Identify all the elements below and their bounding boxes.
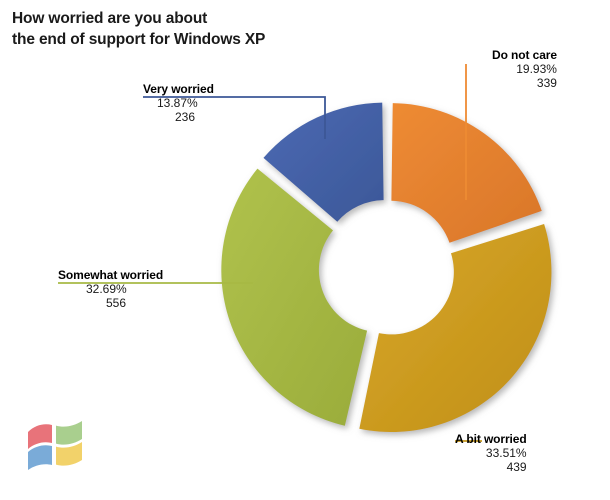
callout-label: A bit worried xyxy=(455,432,527,446)
donut-slice[interactable] xyxy=(359,224,551,432)
flag-quadrant-green xyxy=(56,421,82,445)
flag-quadrant-blue xyxy=(28,445,52,470)
donut-slices xyxy=(221,103,551,432)
callout-label: Very worried xyxy=(143,82,214,96)
callout-very-worried: Very worried 13.87% 236 xyxy=(143,82,214,124)
flag-quadrant-red xyxy=(28,424,52,449)
chart-canvas: How worried are you about the end of sup… xyxy=(0,0,610,500)
callout-label: Somewhat worried xyxy=(58,268,163,282)
callout-a-bit-worried: A bit worried 33.51% 439 xyxy=(455,432,527,474)
callout-count: 339 xyxy=(492,76,557,90)
callout-percent: 33.51% xyxy=(455,446,527,460)
callout-count: 439 xyxy=(455,460,527,474)
windows-xp-flag-logo xyxy=(24,418,86,476)
callout-percent: 19.93% xyxy=(492,62,557,76)
callout-percent: 32.69% xyxy=(58,282,163,296)
callout-label: Do not care xyxy=(492,48,557,62)
flag-quadrant-yellow xyxy=(56,442,82,466)
callout-somewhat-worried: Somewhat worried 32.69% 556 xyxy=(58,268,163,310)
callout-percent: 13.87% xyxy=(143,96,214,110)
callout-do-not-care: Do not care 19.93% 339 xyxy=(492,48,557,90)
callout-count: 556 xyxy=(58,296,163,310)
callout-count: 236 xyxy=(143,110,214,124)
